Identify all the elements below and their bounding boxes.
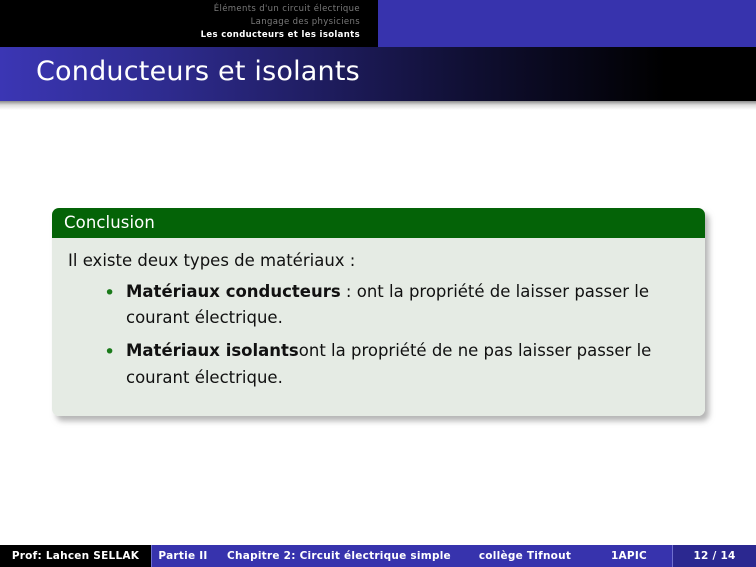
top-navigation-bar: Éléments d'un circuit électrique Langage… <box>0 0 756 47</box>
footer-school: collège Tifnout <box>464 545 586 567</box>
materials-list: Matériaux conducteurs : ont la propriété… <box>66 279 691 392</box>
page-title: Conducteurs et isolants <box>36 56 360 87</box>
footer-part[interactable]: Partie II <box>152 545 214 567</box>
footer-class: 1APIC <box>586 545 672 567</box>
footer-chapter[interactable]: Chapitre 2: Circuit électrique simple <box>214 545 464 567</box>
slide-title-bar: Conducteurs et isolants <box>0 47 756 101</box>
conclusion-block-heading: Conclusion <box>52 208 705 238</box>
conclusion-block-body: Il existe deux types de matériaux : Maté… <box>52 238 705 416</box>
list-item-term: Matériaux conducteurs <box>126 282 341 301</box>
conclusion-intro-text: Il existe deux types de matériaux : <box>66 248 691 275</box>
navigation-section-list: Éléments d'un circuit électrique Langage… <box>0 0 378 47</box>
list-item-term: Matériaux isolants <box>126 341 299 360</box>
list-item: Matériaux conducteurs : ont la propriété… <box>104 279 691 332</box>
list-item: Matériaux isolantsont la propriété de ne… <box>104 338 691 391</box>
nav-item-elements-circuit[interactable]: Éléments d'un circuit électrique <box>0 0 360 16</box>
footer-page-number: 12 / 14 <box>672 545 756 567</box>
footer-author: Prof: Lahcen SELLAK <box>0 545 152 567</box>
nav-item-conducteurs-isolants[interactable]: Les conducteurs et les isolants <box>0 29 360 42</box>
nav-item-langage-physiciens[interactable]: Langage des physiciens <box>0 16 360 29</box>
slide-footer: Prof: Lahcen SELLAK Partie II Chapitre 2… <box>0 545 756 567</box>
title-bar-shadow <box>0 101 756 110</box>
conclusion-block: Conclusion Il existe deux types de matér… <box>52 208 705 416</box>
